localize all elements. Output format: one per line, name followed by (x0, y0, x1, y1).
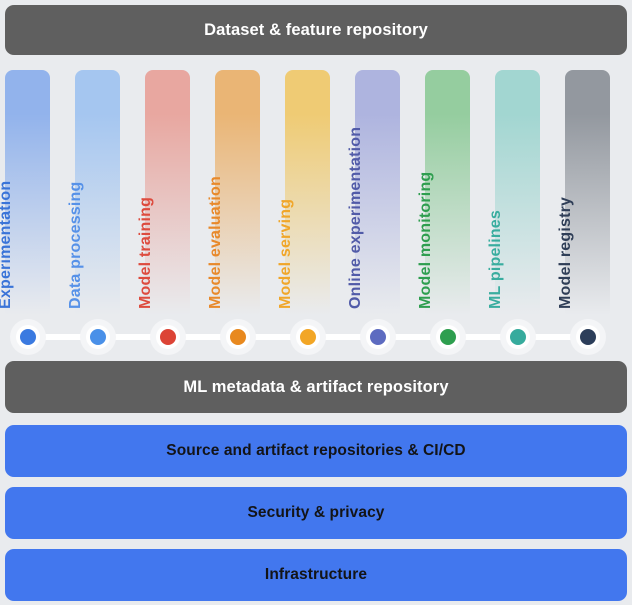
stage-node-1[interactable] (13, 322, 43, 352)
stage-node-dot-6 (370, 329, 386, 345)
stage-label-text-3: Model training (138, 197, 154, 309)
ml-metadata-artifact-repository-label: ML metadata & artifact repository (183, 378, 448, 397)
stage-node-dot-3 (160, 329, 176, 345)
stage-node-dot-1 (20, 329, 36, 345)
stage-column-1[interactable]: Experimentation (5, 70, 50, 315)
stage-node-7[interactable] (433, 322, 463, 352)
stage-node-5[interactable] (293, 322, 323, 352)
connector-segment-2 (112, 334, 154, 340)
stage-label-text-4: Model evaluation (208, 176, 224, 309)
connector-segment-8 (532, 334, 574, 340)
stage-column-6[interactable]: Online experimentation (355, 70, 400, 315)
stage-node-dot-9 (580, 329, 596, 345)
stage-node-3[interactable] (153, 322, 183, 352)
stage-label-text-6: Online experimentation (348, 127, 364, 309)
mlops-architecture-diagram: Dataset & feature repository Experimenta… (0, 0, 632, 605)
connector-segment-5 (322, 334, 364, 340)
stage-label-text-7: Model monitoring (418, 172, 434, 309)
stage-node-4[interactable] (223, 322, 253, 352)
source-artifact-repositories-cicd-label: Source and artifact repositories & CI/CD (166, 442, 465, 460)
stage-node-9[interactable] (573, 322, 603, 352)
dataset-feature-repository-label: Dataset & feature repository (204, 21, 428, 40)
stage-node-dot-4 (230, 329, 246, 345)
stage-column-5[interactable]: Model serving (285, 70, 330, 315)
stage-column-9[interactable]: Model registry (565, 70, 610, 315)
stage-column-2[interactable]: Data processing (75, 70, 120, 315)
dataset-feature-repository-band: Dataset & feature repository (5, 5, 627, 55)
stage-column-3[interactable]: Model training (145, 70, 190, 315)
source-artifact-repositories-cicd-band: Source and artifact repositories & CI/CD (5, 425, 627, 477)
stage-node-dot-8 (510, 329, 526, 345)
stage-label-text-5: Model serving (278, 199, 294, 309)
connector-segment-6 (392, 334, 434, 340)
stage-connector-track (0, 315, 632, 359)
stage-node-dot-2 (90, 329, 106, 345)
stage-column-4[interactable]: Model evaluation (215, 70, 260, 315)
stage-node-dot-5 (300, 329, 316, 345)
stage-node-6[interactable] (363, 322, 393, 352)
security-privacy-label: Security & privacy (247, 504, 384, 522)
connector-segment-3 (182, 334, 224, 340)
stage-columns: ExperimentationData processingModel trai… (0, 70, 632, 315)
stage-node-8[interactable] (503, 322, 533, 352)
stage-label-text-1: Experimentation (0, 181, 14, 309)
stage-column-7[interactable]: Model monitoring (425, 70, 470, 315)
connector-segment-1 (42, 334, 84, 340)
stage-label-text-9: Model registry (558, 197, 574, 309)
infrastructure-label: Infrastructure (265, 566, 367, 584)
connector-segment-4 (252, 334, 294, 340)
stage-node-2[interactable] (83, 322, 113, 352)
infrastructure-band: Infrastructure (5, 549, 627, 601)
connector-segment-7 (462, 334, 504, 340)
stage-label-text-2: Data processing (68, 182, 84, 309)
security-privacy-band: Security & privacy (5, 487, 627, 539)
ml-metadata-artifact-repository-band: ML metadata & artifact repository (5, 361, 627, 413)
stage-label-text-8: ML pipelines (488, 210, 504, 309)
stage-column-8[interactable]: ML pipelines (495, 70, 540, 315)
stage-node-dot-7 (440, 329, 456, 345)
